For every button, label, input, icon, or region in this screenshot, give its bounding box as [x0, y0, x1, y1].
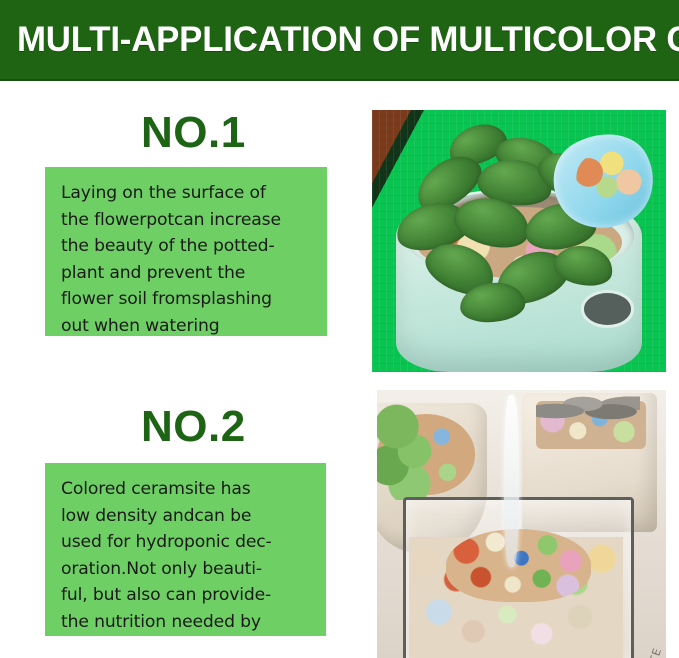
vase-pellets-heap — [446, 529, 591, 601]
photo-potted-plant-canvas — [372, 110, 666, 372]
water-stream — [504, 395, 518, 567]
section-heading-no1: NO.1 — [141, 110, 246, 156]
photo-hydroponic-vase-canvas: GALETTE — [377, 390, 666, 658]
pot-drain-hole — [584, 293, 631, 324]
decorative-stones — [536, 390, 640, 425]
photo-hydroponic-vase: GALETTE — [377, 390, 666, 658]
page-title: MULTI-APPLICATION OF MULTICOLOR CERAMSIT… — [17, 19, 662, 61]
section-heading-no2: NO.2 — [141, 404, 246, 450]
section-text-card-no2: Colored ceramsite has low density andcan… — [45, 463, 326, 636]
header-banner: MULTI-APPLICATION OF MULTICOLOR CERAMSIT… — [0, 0, 679, 81]
photo-potted-plant — [372, 110, 666, 372]
section-text-card-no1: Laying on the surface of the flowerpotca… — [45, 167, 327, 336]
succulent-plant — [377, 398, 435, 500]
